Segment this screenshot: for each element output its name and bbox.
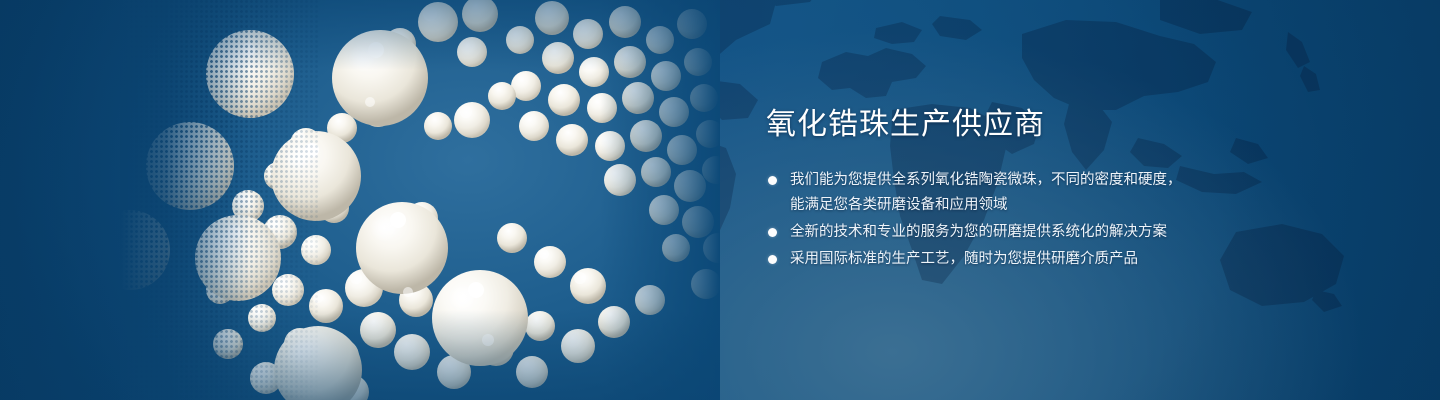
bullet-line-1: 全新的技术和专业的服务为您的研磨提供系统化的解决方案 [790,220,1284,245]
bullet-line-1: 采用国际标准的生产工艺，随时为您提供研磨介质产品 [790,247,1284,272]
bullet-dot-icon [768,228,777,237]
bullet-item: 我们能为您提供全系列氧化锆陶瓷微珠，不同的密度和硬度， 能满足您各类研磨设备和应… [764,168,1284,218]
bullet-dot-icon [768,176,777,185]
bullet-line-1: 我们能为您提供全系列氧化锆陶瓷微珠，不同的密度和硬度， [790,168,1284,193]
banner-headline: 氧化锆珠生产供应商 [766,106,1284,144]
bullet-dot-icon [768,255,777,264]
hero-banner: 氧化锆珠生产供应商 我们能为您提供全系列氧化锆陶瓷微珠，不同的密度和硬度， 能满… [0,0,1440,400]
banner-bullet-list: 我们能为您提供全系列氧化锆陶瓷微珠，不同的密度和硬度， 能满足您各类研磨设备和应… [764,168,1284,272]
bullet-line-2: 能满足您各类研磨设备和应用领域 [790,193,1284,218]
banner-copy: 氧化锆珠生产供应商 我们能为您提供全系列氧化锆陶瓷微珠，不同的密度和硬度， 能满… [764,106,1284,274]
bullet-item: 采用国际标准的生产工艺，随时为您提供研磨介质产品 [764,247,1284,272]
bullet-item: 全新的技术和专业的服务为您的研磨提供系统化的解决方案 [764,220,1284,245]
